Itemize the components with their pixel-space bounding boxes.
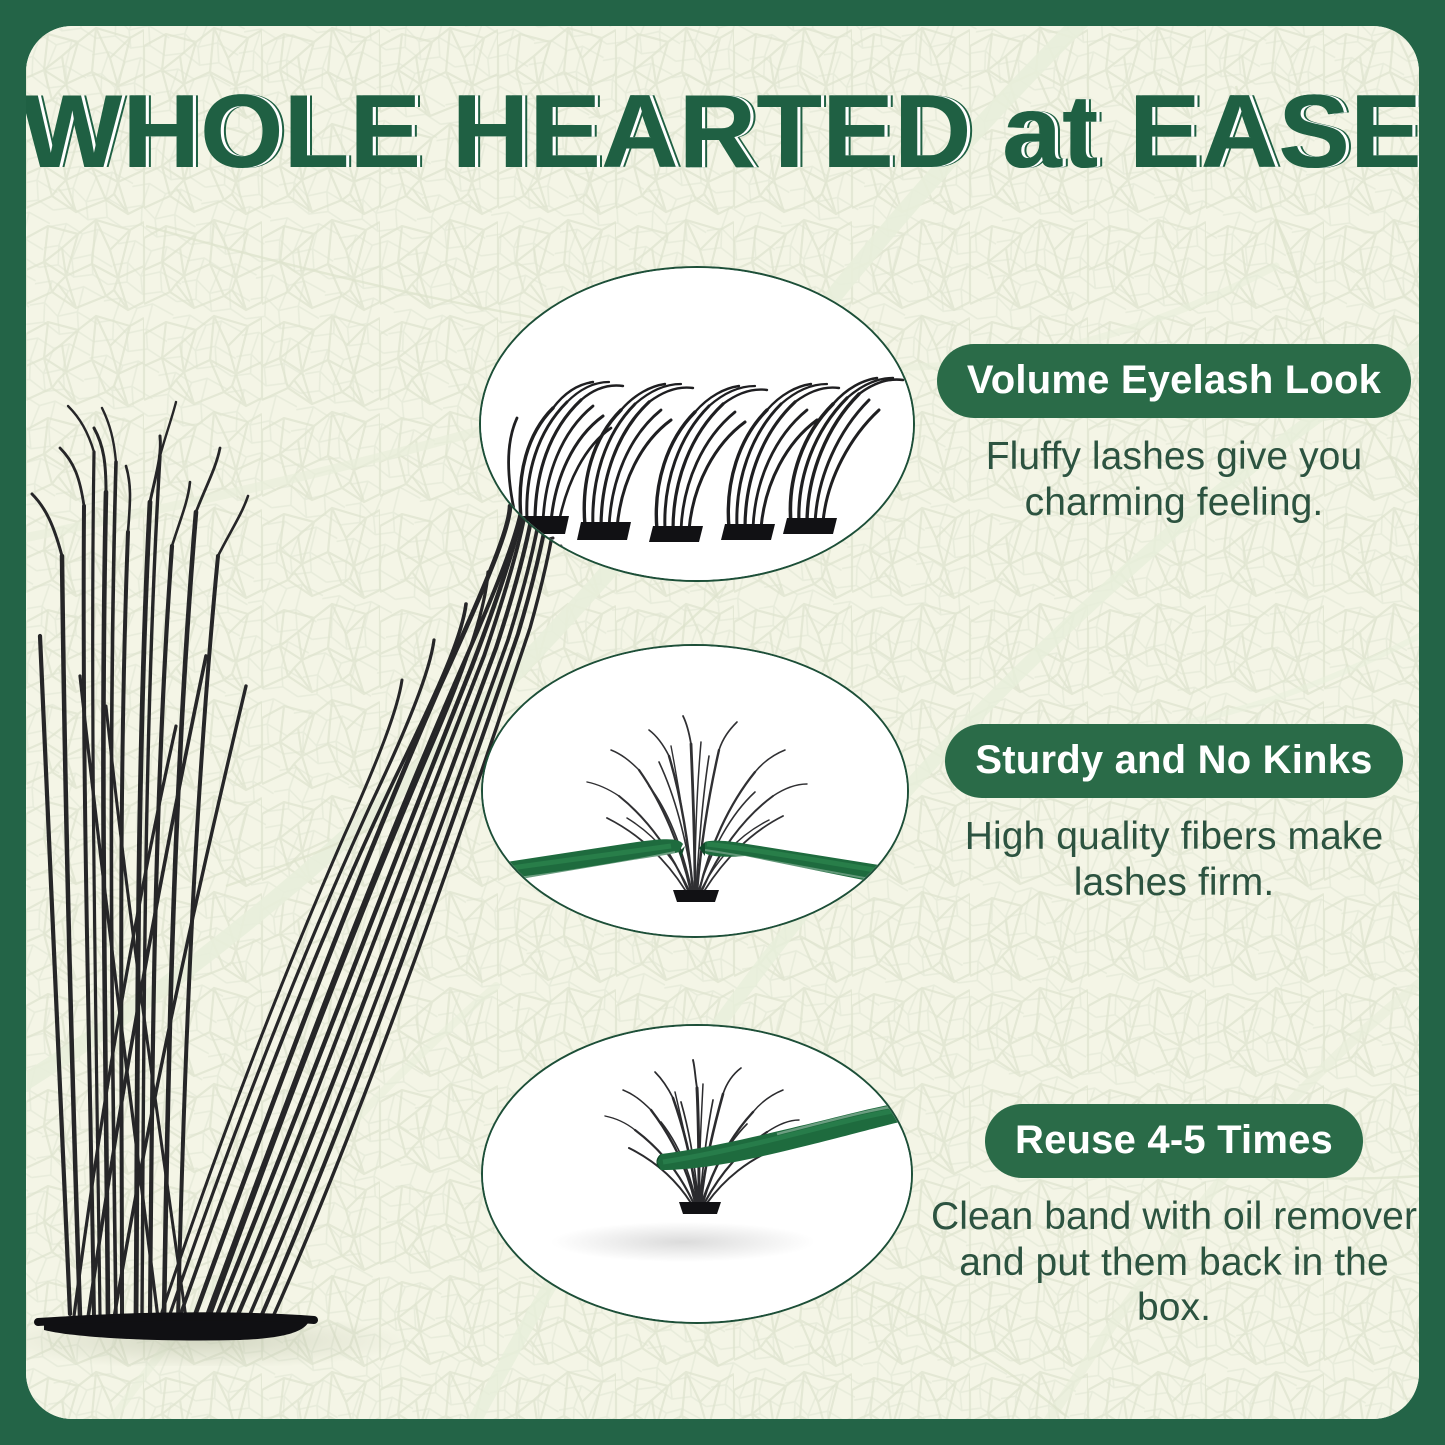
feature-image-3 xyxy=(481,1024,913,1324)
page-title: WHOLE HEARTED at EASE xyxy=(26,80,1419,184)
feature-badge-1: Volume Eyelash Look xyxy=(937,344,1411,418)
feature-description-1: Fluffy lashes give you charming feeling. xyxy=(924,434,1419,525)
feature-image-2 xyxy=(481,644,909,938)
product-infographic-poster: WHOLE HEARTED at EASE xyxy=(0,0,1445,1445)
feature-description-3: Clean band with oil remover and put them… xyxy=(924,1194,1419,1331)
feature-badge-3: Reuse 4-5 Times xyxy=(985,1104,1363,1178)
feature-description-2: High quality fibers make lashes firm. xyxy=(924,814,1419,905)
feature-badge-2: Sturdy and No Kinks xyxy=(945,724,1402,798)
poster-inner-panel: WHOLE HEARTED at EASE xyxy=(26,26,1419,1419)
feature-block-2: Sturdy and No Kinks High quality fibers … xyxy=(924,724,1419,905)
feature-block-1: Volume Eyelash Look Fluffy lashes give y… xyxy=(924,344,1419,525)
poster-title-container: WHOLE HEARTED at EASE xyxy=(26,80,1419,184)
feature-image-1 xyxy=(479,266,915,582)
feature-block-3: Reuse 4-5 Times Clean band with oil remo… xyxy=(924,1104,1419,1331)
